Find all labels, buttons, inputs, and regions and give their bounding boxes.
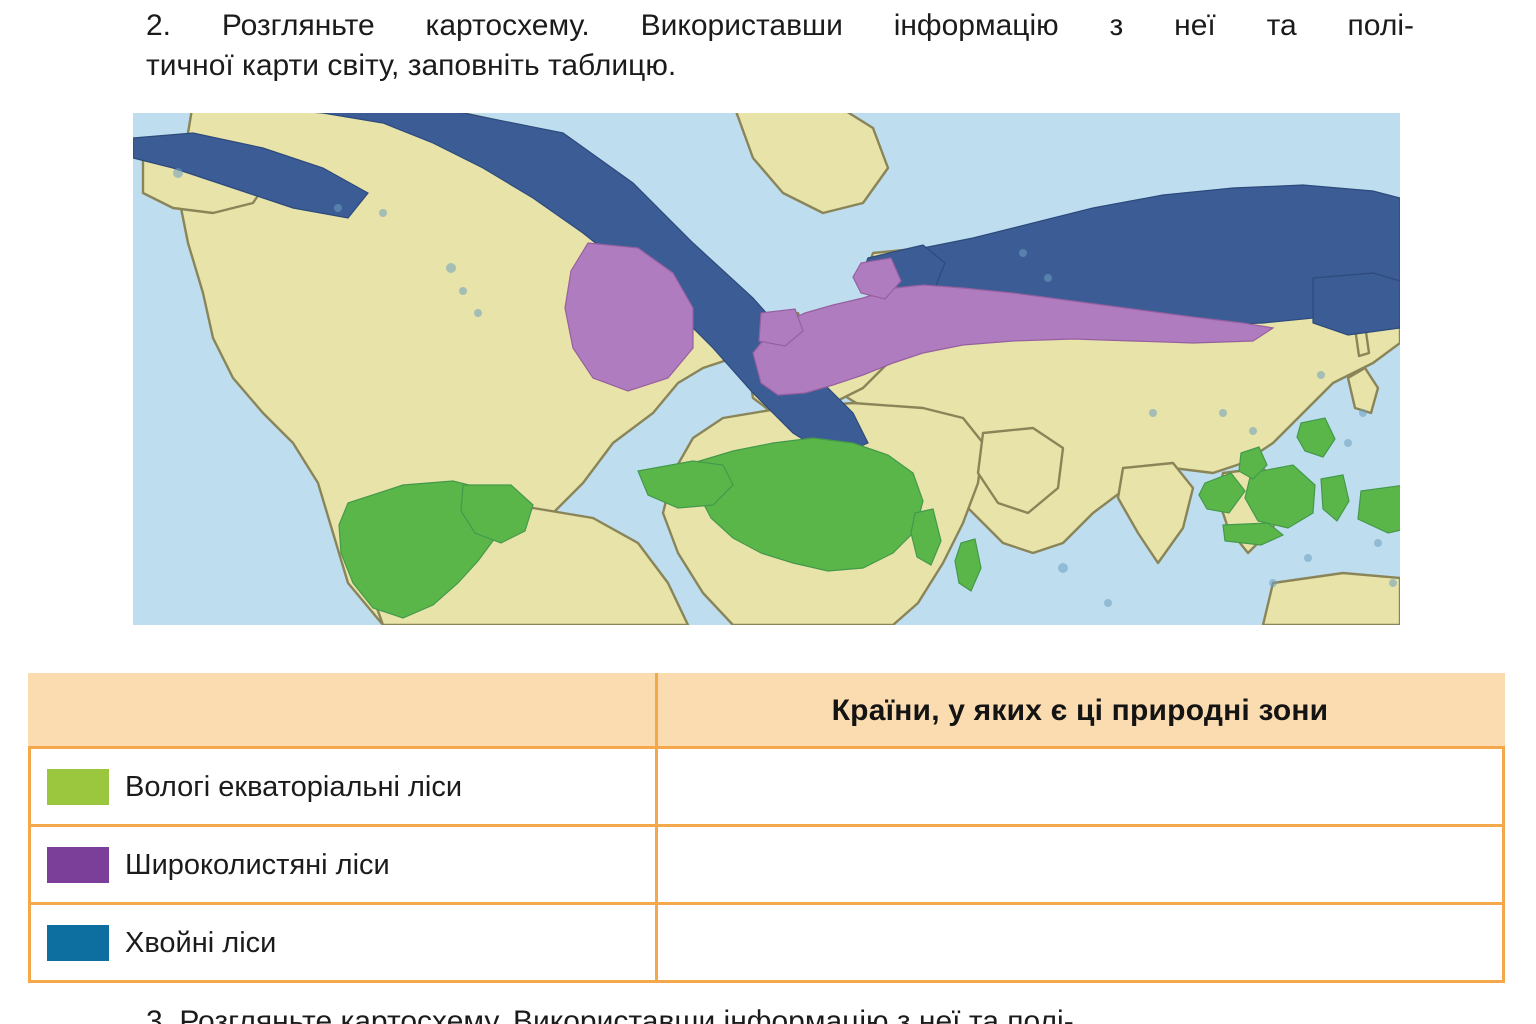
table-header-row: Країни, у яких є ці природні зони	[30, 675, 1504, 748]
legend-swatch-green-icon	[47, 769, 109, 805]
question-line-2: тичної карти світу, заповніть таблицю.	[146, 46, 1416, 86]
answer-cell-coniferous[interactable]	[657, 904, 1504, 982]
question-word: Використавши	[641, 6, 843, 46]
legend-swatch-purple-icon	[47, 847, 109, 883]
taiga-eurasia-east-lobe	[1313, 273, 1400, 335]
table-head: Країни, у яких є ці природні зони	[30, 675, 1504, 748]
question-word: інформацію	[894, 6, 1059, 46]
map-svg	[133, 113, 1400, 625]
table-row: Хвойні ліси	[30, 904, 1504, 982]
question-word: картосхему.	[426, 6, 590, 46]
question-word: з	[1110, 6, 1124, 46]
table-header-countries: Країни, у яких є ці природні зони	[657, 675, 1504, 748]
zone-cell-broadleaf: Широколистяні ліси	[30, 826, 657, 904]
table-body: Вологі екваторіальні ліси Широколистяні …	[30, 748, 1504, 982]
question-word: полі-	[1348, 6, 1414, 46]
answer-cell-broadleaf[interactable]	[657, 826, 1504, 904]
zone-cell-coniferous: Хвойні ліси	[30, 904, 657, 982]
world-natural-zones-map	[133, 113, 1400, 625]
natural-zones-table: Країни, у яких є ці природні зони Вологі…	[28, 673, 1505, 983]
next-question-text: 3. Розгляньте картосхему. Використавши і…	[146, 1002, 1426, 1024]
zone-label: Хвойні ліси	[125, 926, 276, 960]
table-row: Вологі екваторіальні ліси	[30, 748, 1504, 826]
answer-cell-equatorial[interactable]	[657, 748, 1504, 826]
question-word: та	[1267, 6, 1297, 46]
zone-label: Широколистяні ліси	[125, 848, 390, 882]
table-header-zone	[30, 675, 657, 748]
question-block: 2. Розгляньте картосхему. Використавши і…	[146, 6, 1416, 86]
question-line-1: 2. Розгляньте картосхему. Використавши і…	[146, 6, 1414, 46]
legend-swatch-blue-icon	[47, 925, 109, 961]
zone-label: Вологі екваторіальні ліси	[125, 770, 462, 804]
question-word: неї	[1174, 6, 1216, 46]
land-australia	[1263, 573, 1400, 625]
question-word: 2.	[146, 6, 171, 46]
question-word: Розгляньте	[222, 6, 375, 46]
zone-cell-equatorial: Вологі екваторіальні ліси	[30, 748, 657, 826]
table-row: Широколистяні ліси	[30, 826, 1504, 904]
